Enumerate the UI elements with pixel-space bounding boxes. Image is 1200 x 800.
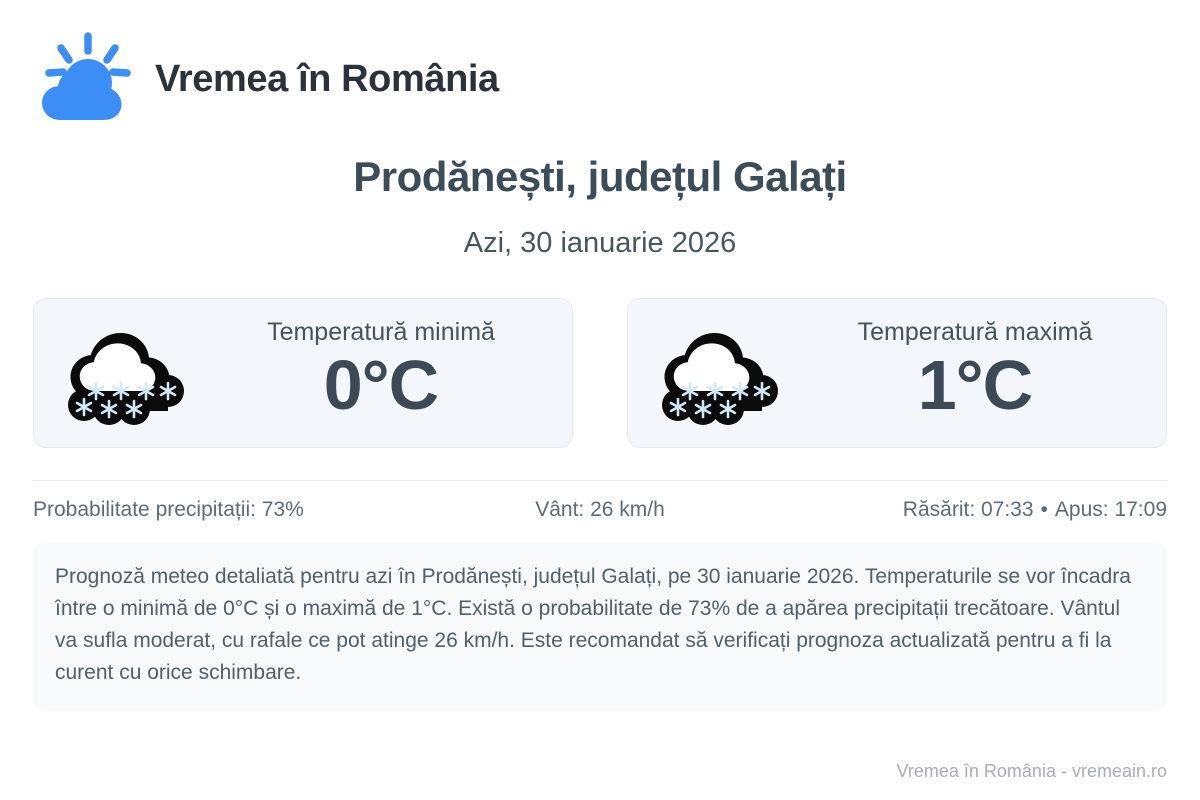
weather-stats-row: Probabilitate precipitații: 73% Vânt: 26… [33,498,1167,521]
snow-cloud-icon [656,317,784,429]
max-temperature-label: Temperatură maximă [858,319,1093,347]
section-divider [33,480,1167,481]
sunrise-value: Răsărit: 07:33 [903,498,1034,521]
temperature-cards: Temperatură minimă 0°C [33,298,1167,448]
sun-times-stat: Răsărit: 07:33•Apus: 17:09 [789,498,1167,521]
precipitation-stat: Probabilitate precipitații: 73% [33,498,411,521]
max-temperature-value: 1°C [918,348,1032,424]
page-subtitle: Azi, 30 ianuarie 2026 [33,228,1167,260]
sun-times-separator: • [1034,498,1055,521]
wind-stat: Vânt: 26 km/h [411,498,789,521]
site-logo-text: Vremea în România [155,59,499,100]
min-temperature-body: Temperatură minimă 0°C [204,319,558,428]
min-temperature-value: 0°C [324,348,438,424]
sun-behind-cloud-icon [33,28,137,132]
weather-page: Vremea în România Prodănești, județul Ga… [0,0,1200,800]
footer-credit: Vremea în România - vremeain.ro [897,761,1167,782]
forecast-description: Prognoză meteo detaliată pentru azi în P… [33,543,1167,711]
sunset-value: Apus: 17:09 [1055,498,1167,521]
min-temperature-label: Temperatură minimă [267,319,495,347]
max-temperature-body: Temperatură maximă 1°C [798,319,1152,428]
min-temperature-card: Temperatură minimă 0°C [33,298,573,448]
snow-cloud-icon [62,317,190,429]
max-temperature-card: Temperatură maximă 1°C [627,298,1167,448]
page-title: Prodănești, județul Galați [33,154,1167,200]
site-logo[interactable]: Vremea în România [33,0,1167,112]
